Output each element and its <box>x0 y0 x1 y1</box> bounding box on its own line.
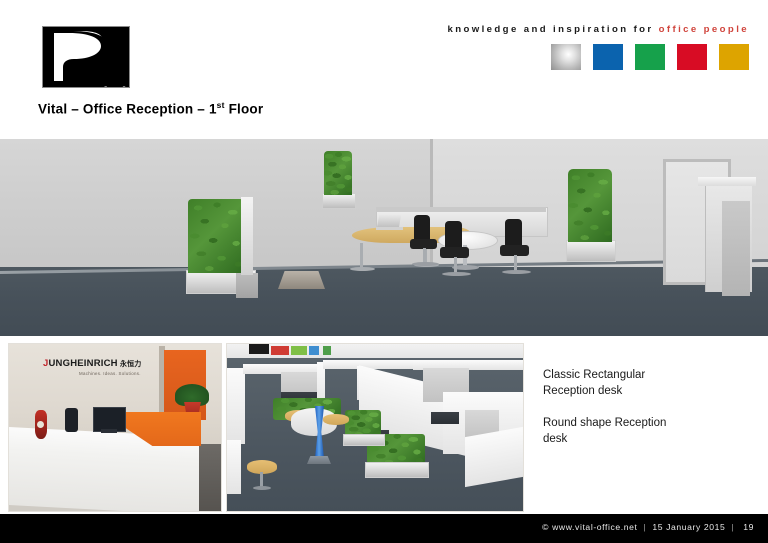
render-office-chair-2 <box>440 221 472 283</box>
photo-mid-strip-red <box>271 346 289 355</box>
render-office-chair-3 <box>500 219 532 281</box>
photo-mid-strip-blue <box>309 346 319 355</box>
photo-mid-wood-table-2 <box>323 414 349 425</box>
footer-date: 15 January 2015 <box>652 522 725 532</box>
caption-2-line-1: Round shape Reception <box>543 416 753 432</box>
caption-1-line-2: Reception desk <box>543 384 753 400</box>
photo-left-brand-name: UNGHEINRICH <box>48 358 117 369</box>
footer-copyright-icon: © <box>542 522 549 532</box>
swatch-red <box>677 44 707 70</box>
render-plant-wall-right <box>568 169 612 242</box>
photo-left-brand-logo: JUNGHEINRICH 永恒力 <box>43 358 141 369</box>
logo-swirl-shape <box>43 27 129 87</box>
render-plant-wall-corner <box>324 151 352 195</box>
photo-mid-plant-wall-2 <box>345 410 381 436</box>
render-planter-left-side <box>236 273 258 298</box>
photo-mid-wall-1 <box>227 368 245 444</box>
page-title: Vital – Office Reception – 1st Floor <box>38 100 263 117</box>
page-title-post: Floor <box>225 102 264 117</box>
swatch-gold <box>719 44 749 70</box>
photo-mid-blue-sculpture-base <box>307 456 331 464</box>
render-laptop-base <box>376 227 403 230</box>
photo-left-brand-cn: 永恒力 <box>118 361 142 368</box>
footer-separator-2: | <box>725 522 740 532</box>
footer-separator-1: | <box>638 522 653 532</box>
render-blue-sculpture-base <box>278 271 325 289</box>
caption-round-shape: Round shape Reception desk <box>543 416 753 447</box>
swatch-blue <box>593 44 623 70</box>
logo-wordmark: Vital-Office® <box>93 85 130 88</box>
photo-mid-table-foot <box>253 486 271 490</box>
photo-mid-strip-green <box>291 346 307 355</box>
photo-mid-planter-2 <box>343 434 385 446</box>
caption-1-line-1: Classic Rectangular <box>543 368 753 384</box>
slide-footer: © www.vital-office.net|15 January 2015| … <box>0 514 768 543</box>
render-planter-corner <box>322 193 356 209</box>
page-title-pre: Vital – Office Reception – 1 <box>38 102 217 117</box>
footer-page-number: 19 <box>743 522 754 532</box>
logo-brand-text: Vital-Office <box>93 85 130 89</box>
swatch-green <box>635 44 665 70</box>
photo-left-vase-decoration <box>37 421 44 428</box>
render-office-chair-1 <box>410 215 440 275</box>
photo-mid-strip-green2 <box>323 346 331 355</box>
render-plant-wall-left-panel <box>241 197 253 275</box>
photo-floorplan-render <box>226 343 524 512</box>
photo-jungheinrich-reception: JUNGHEINRICH 永恒力 Machines. Ideas. Soluti… <box>8 343 222 512</box>
footer-meta: © www.vital-office.net|15 January 2015| … <box>542 522 754 532</box>
swatch-silver <box>551 44 581 70</box>
render-counter-top <box>698 177 756 186</box>
brand-swatch-row <box>551 44 749 70</box>
main-render-image <box>0 139 768 336</box>
render-planter-right <box>566 240 616 262</box>
render-floor <box>0 267 768 336</box>
brand-tagline: knowledge and inspiration for office peo… <box>448 24 750 35</box>
photo-left-chair <box>65 408 78 432</box>
photo-mid-planter-3 <box>365 462 429 478</box>
page-title-ordinal: st <box>217 100 225 110</box>
photo-mid-wall-13 <box>227 440 241 494</box>
render-desk-foot-left <box>350 267 375 271</box>
footer-website: www.vital-office.net <box>552 522 637 532</box>
caption-2-line-2: desk <box>543 432 753 448</box>
photo-mid-furniture-dark-3 <box>431 412 459 424</box>
caption-block: Classic Rectangular Reception desk Round… <box>543 368 753 448</box>
caption-classic-rectangular: Classic Rectangular Reception desk <box>543 368 753 399</box>
photo-mid-strip-dark <box>249 344 269 354</box>
tagline-accent-text: office people <box>659 24 749 35</box>
render-counter-front <box>722 201 750 296</box>
slide-canvas: Vital-Office® Vital – Office Reception –… <box>0 0 768 543</box>
photo-left-monitor-stand <box>101 429 117 433</box>
render-desk-leg-left <box>360 243 363 269</box>
tagline-main-text: knowledge and inspiration for <box>448 24 659 35</box>
vital-office-logo-icon: Vital-Office® <box>42 26 130 88</box>
photo-mid-wall-12 <box>465 427 523 487</box>
photo-left-brand-tagline: Machines. Ideas. Solutions. <box>79 371 141 376</box>
render-credenza-band <box>376 207 546 212</box>
render-plant-wall-left <box>188 199 244 273</box>
slide-header: Vital-Office® Vital – Office Reception –… <box>0 0 768 138</box>
